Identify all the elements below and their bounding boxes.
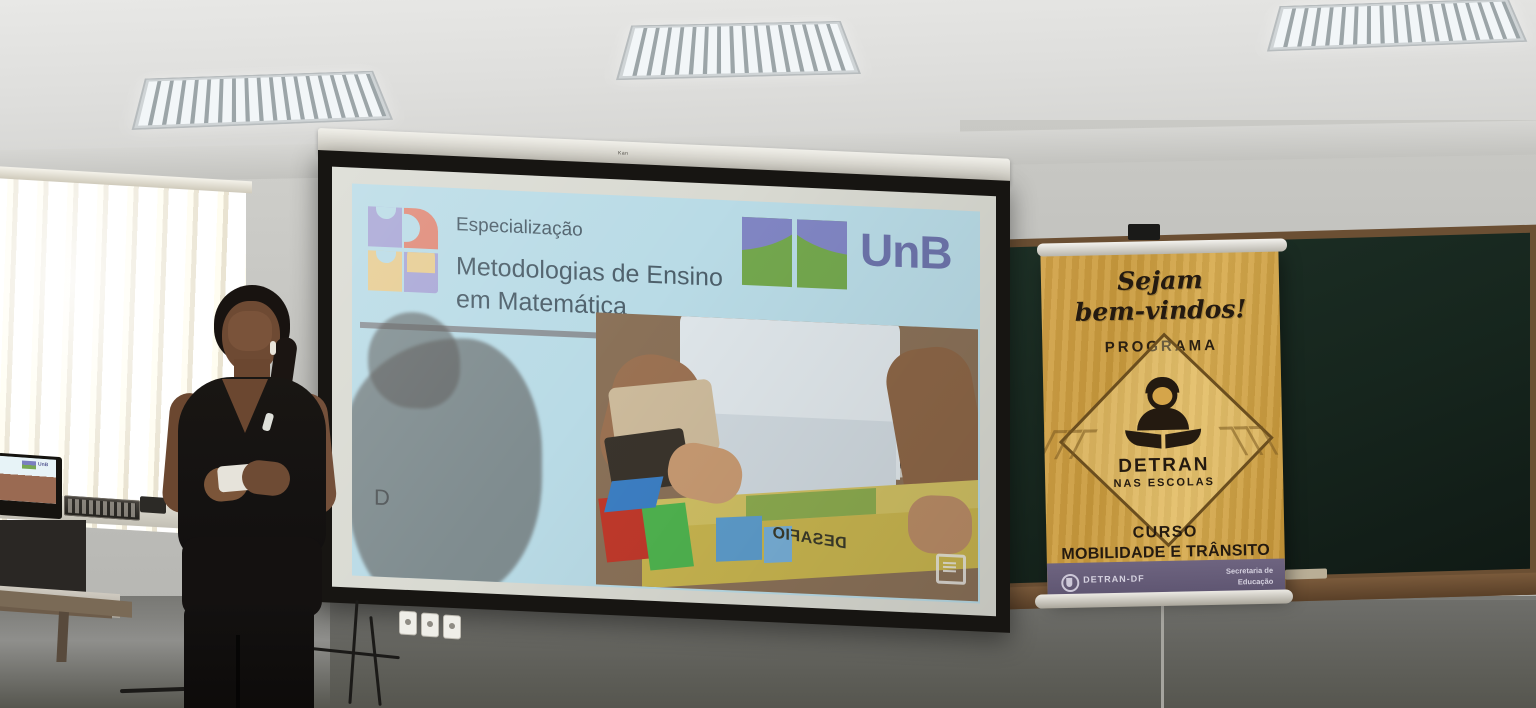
slide-photo: DESAFIO (596, 312, 978, 601)
unb-logo-icon (742, 217, 847, 290)
student-body-icon (1137, 407, 1189, 430)
slide-subtitle: Especialização (456, 214, 583, 242)
laptop-screen: UnB (0, 456, 56, 504)
course-logo-icon (368, 206, 440, 293)
presenter-shadow (352, 333, 542, 603)
banner-curso-label: CURSO (1046, 521, 1284, 544)
banner-footer-secretary: Secretaria de Educação (1226, 565, 1274, 588)
detran-logo-icon: DETRAN NAS ESCOLAS (1096, 379, 1230, 491)
presenter-leg-split (236, 635, 240, 708)
banner-footer-org: DETRAN-DF (1083, 573, 1145, 584)
laptop-unb-logo-icon (22, 460, 36, 469)
banner-support-pole (1161, 600, 1164, 708)
laptop: UnB (0, 453, 62, 519)
banner-detran-name: DETRAN (1098, 454, 1230, 479)
chevron-left-icon (1046, 429, 1101, 456)
ceiling-light-left-icon (132, 71, 393, 130)
roller-brand-label: Kan (618, 150, 628, 156)
projector-screen-surface: Especialização Metodologias de Ensino em… (332, 167, 996, 617)
classroom-presentation-photo: Kan Especialização Metodologias de Ensin… (0, 0, 1536, 708)
presentation-slide: Especialização Metodologias de Ensino em… (352, 184, 980, 604)
rubiks-cube-icon (596, 475, 694, 575)
projector-screen: Especialização Metodologias de Ensino em… (318, 150, 1010, 633)
banner-welcome-text: Sejam bem-vindos! (1041, 264, 1280, 328)
student-head-icon (1147, 380, 1178, 411)
eraser (1285, 568, 1327, 579)
photo-watermark-icon (936, 554, 966, 585)
detran-df-logo-icon (1061, 574, 1079, 592)
unb-wordmark: UnB (860, 222, 952, 280)
chevron-right-icon (1226, 426, 1281, 453)
detran-rollup-banner: Sejam bem-vindos! PROGRAMA DETRAN NAS ES… (1040, 250, 1285, 600)
presenter-legs (184, 605, 314, 708)
presenter (160, 285, 338, 708)
presenter-earring (270, 341, 276, 355)
laptop-unb-wordmark: UnB (38, 462, 48, 469)
wall-outlet-2 (422, 614, 438, 637)
open-book-icon (1125, 431, 1201, 449)
banner-clip (1128, 224, 1160, 240)
wall-outlet-1 (400, 612, 416, 635)
ceiling-light-center-icon (616, 21, 861, 80)
wall-outlet-3 (444, 616, 460, 639)
